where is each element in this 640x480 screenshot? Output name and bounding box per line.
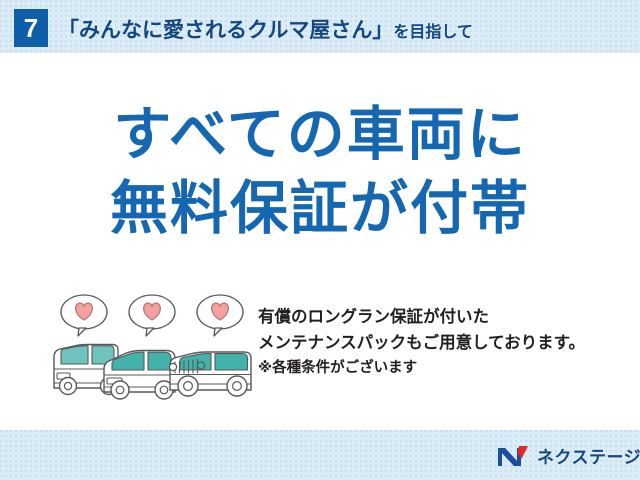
nexstage-n-icon: [497, 444, 530, 468]
header-title-sub: を目指して: [393, 18, 473, 42]
body-copy-note: ※各種条件がございます: [258, 357, 618, 379]
car-3-suv: [169, 352, 251, 396]
headline: すべての車両に 無料保証が付帯: [0, 101, 640, 244]
body-copy: 有償のロングラン保証が付いた メンテナンスパックもご用意しております。 ※各種条…: [258, 305, 618, 380]
section-number-badge: 7: [14, 9, 48, 47]
heart-bubble-2: [129, 295, 175, 336]
header-title: 「みんなに愛されるクルマ屋さん」を目指して: [58, 14, 473, 42]
car-2-minivan: [104, 351, 175, 400]
main-content: すべての車両に 無料保証が付帯: [0, 53, 640, 430]
section-number-label: 7: [24, 15, 38, 41]
heart-bubble-1: [61, 295, 107, 336]
brand-name-label: ネクステージ: [537, 443, 640, 468]
heart-bubble-3: [197, 295, 243, 336]
promo-slide: 7 「みんなに愛されるクルマ屋さん」を目指して すべての車両に 無料保証が付帯: [0, 0, 640, 480]
headline-line-1: すべての車両に: [0, 101, 640, 169]
body-copy-line-1: 有償のロングラン保証が付いた: [258, 305, 618, 331]
header-title-main: 「みんなに愛されるクルマ屋さん」: [58, 14, 393, 44]
headline-line-2: 無料保証が付帯: [0, 175, 640, 243]
body-copy-line-2: メンテナンスパックもご用意しております。: [258, 331, 618, 357]
brand-logo: ネクステージ: [497, 443, 640, 468]
cars-illustration: [48, 291, 260, 403]
